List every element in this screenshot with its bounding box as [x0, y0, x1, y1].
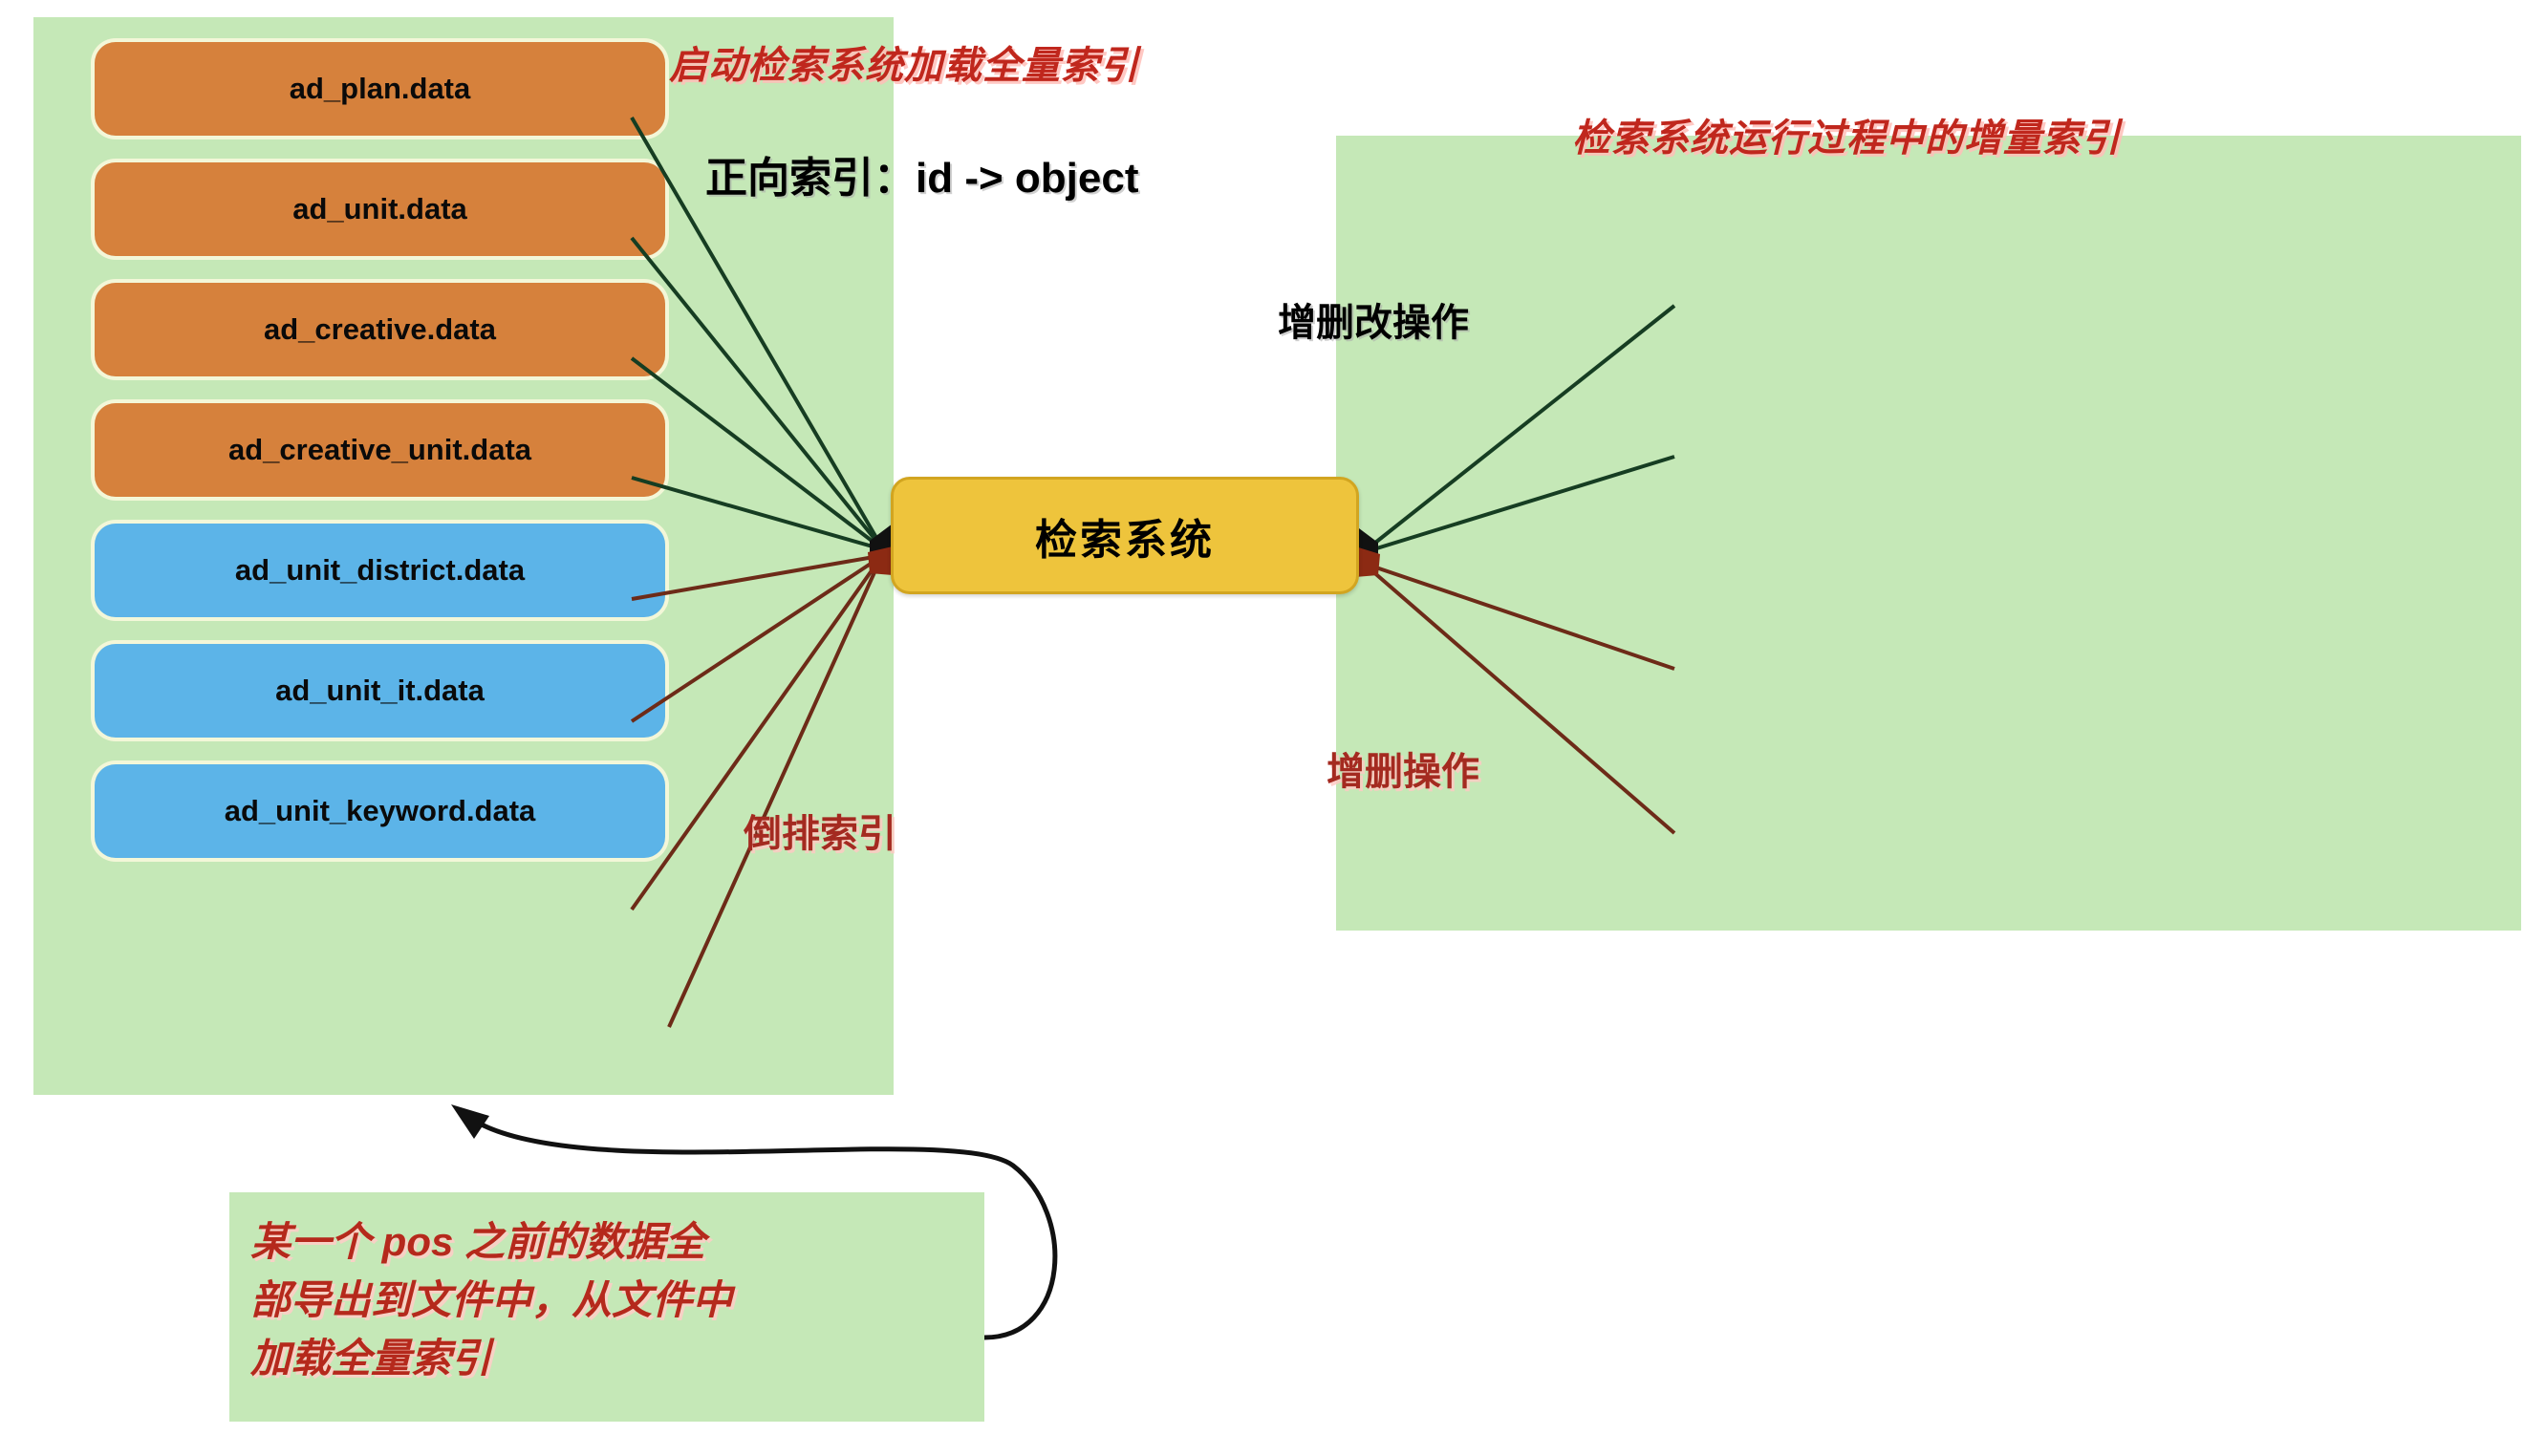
note-line-2: 部导出到文件中，从文件中 [250, 1272, 977, 1330]
data-box-ad-unit-keyword[interactable]: ad_unit_keyword.data [95, 764, 665, 858]
data-box-label: ad_unit_district.data [235, 553, 525, 589]
center-node-search-system[interactable]: 检索系统 [891, 477, 1359, 594]
data-box-ad-creative[interactable]: ad_creative.data [95, 283, 665, 376]
note-callout-arrowhead [451, 1104, 489, 1139]
crud-operation-label: 增删改操作 [1278, 291, 1469, 347]
data-box-label: ad_creative.data [264, 312, 496, 348]
data-box-ad-creative-unit[interactable]: ad_creative_unit.data [95, 403, 665, 497]
forward-index-label: 正向索引：id -> object [705, 143, 1138, 204]
data-box-ad-unit-district[interactable]: ad_unit_district.data [95, 524, 665, 617]
note-text: 某一个 pos 之前的数据全 部导出到文件中，从文件中 加载全量索引 [250, 1213, 977, 1388]
data-box-ad-unit[interactable]: ad_unit.data [95, 162, 665, 256]
note-line-1: 某一个 pos 之前的数据全 [250, 1213, 977, 1272]
data-box-label: ad_unit_keyword.data [225, 794, 536, 829]
right-panel-incremental-index: ad_plan : insert、update、 delete ... ad_u… [1336, 136, 2521, 931]
inverted-index-label: 倒排索引 [744, 803, 896, 858]
data-box-label: ad_unit.data [292, 192, 467, 227]
create-delete-operation-label: 增删操作 [1327, 740, 1479, 796]
left-panel-title: 启动检索系统加载全量索引 [669, 34, 1139, 90]
data-box-label: ad_creative_unit.data [228, 433, 531, 468]
data-box-ad-plan[interactable]: ad_plan.data [95, 42, 665, 136]
data-box-ad-unit-it[interactable]: ad_unit_it.data [95, 644, 665, 738]
data-box-label: ad_unit_it.data [275, 674, 485, 709]
note-line-3: 加载全量索引 [250, 1330, 977, 1388]
right-panel-title: 检索系统运行过程中的增量索引 [1572, 107, 2121, 162]
center-node-label: 检索系统 [1035, 505, 1215, 567]
data-box-label: ad_plan.data [290, 72, 471, 107]
diagram-canvas: ad_plan.data ad_unit.data ad_creative.da… [0, 0, 2546, 1456]
